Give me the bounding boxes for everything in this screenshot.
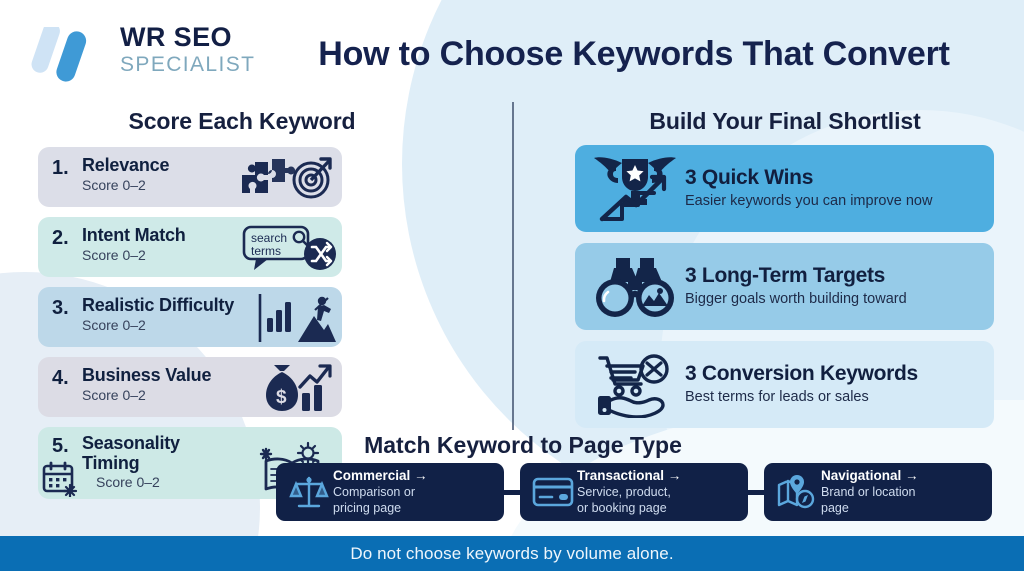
map-pin-compass-icon	[773, 473, 821, 511]
bar-chart-icon	[267, 302, 291, 332]
shortlist-card-long-term-targets[interactable]: 3 Long-Term Targets Bigger goals worth b…	[575, 243, 994, 330]
score-card-relevance[interactable]: 1. Relevance Score 0–2	[38, 147, 342, 207]
intent-match-icons: search terms	[242, 224, 338, 272]
score-item-range: Score 0–2	[82, 317, 234, 334]
svg-text:search: search	[251, 231, 287, 245]
final-shortlist-cards: 3 Quick Wins Easier keywords you can imp…	[575, 145, 994, 439]
column-divider	[512, 102, 514, 430]
score-item-name-line1: Seasonality	[82, 433, 180, 453]
score-item-name: Business Value	[82, 365, 211, 385]
score-item-number: 2.	[52, 225, 82, 251]
score-item-range: Score 0–2	[82, 177, 169, 194]
left-column-heading: Score Each Keyword	[30, 108, 454, 135]
shuffle-icon	[304, 238, 336, 270]
svg-text:$: $	[276, 387, 287, 408]
page-type-desc-line1: Service, product,	[577, 485, 681, 500]
target-arrow-icon	[294, 159, 330, 197]
page-type-title: Navigational →	[821, 468, 919, 484]
footer-banner: Do not choose keywords by volume alone.	[0, 536, 1024, 571]
score-item-name: Realistic Difficulty	[82, 295, 234, 315]
score-item-number: 4.	[52, 365, 82, 391]
wr-logo-mark-icon	[28, 27, 106, 83]
page-type-card-transactional[interactable]: Transactional → Service, product, or boo…	[520, 463, 748, 521]
page-type-heading: Match Keyword to Page Type	[270, 432, 776, 459]
page-type-desc-line2: pricing page	[333, 501, 428, 516]
brand-logo: WR SEO SPECIALIST	[28, 24, 264, 86]
connector-1	[503, 490, 521, 495]
credit-card-icon	[529, 475, 577, 509]
page-type-desc-line1: Brand or location	[821, 485, 919, 500]
mountain-climber-icon	[298, 297, 336, 342]
score-item-number: 1.	[52, 155, 82, 181]
page-type-title: Commercial →	[333, 468, 428, 484]
growth-arrow-icon	[300, 366, 330, 411]
binoculars-icon	[589, 254, 681, 320]
page-type-desc-line1: Comparison or	[333, 485, 428, 500]
page-type-desc-line2: or booking page	[577, 501, 681, 516]
score-item-number: 5.	[52, 433, 82, 459]
svg-text:terms: terms	[251, 244, 281, 258]
page-type-desc-line2: page	[821, 501, 919, 516]
page-title: How to Choose Keywords That Convert	[264, 34, 1004, 74]
shortlist-subtitle: Easier keywords you can improve now	[685, 193, 932, 210]
score-card-realistic-difficulty[interactable]: 3. Realistic Difficulty Score 0–2	[38, 287, 342, 347]
brand-name: WR SEO	[120, 23, 255, 52]
calendar-snowflake-icon	[42, 461, 82, 497]
shortlist-title: 3 Conversion Keywords	[685, 362, 918, 386]
shortlist-subtitle: Bigger goals worth building toward	[685, 291, 907, 308]
shortlist-card-conversion-keywords[interactable]: 3 Conversion Keywords Best terms for lea…	[575, 341, 994, 428]
page-type-card-commercial[interactable]: Commercial → Comparison or pricing page	[276, 463, 504, 521]
score-item-name: Intent Match	[82, 225, 186, 245]
brand-tagline: SPECIALIST	[120, 53, 255, 77]
shortlist-title: 3 Quick Wins	[685, 166, 932, 190]
score-item-name: Relevance	[82, 155, 169, 175]
score-item-range: Score 0–2	[82, 387, 211, 404]
page-type-card-navigational[interactable]: Navigational → Brand or location page	[764, 463, 992, 521]
right-column-heading: Build Your Final Shortlist	[560, 108, 1010, 135]
score-card-intent-match[interactable]: 2. Intent Match Score 0–2 search terms	[38, 217, 342, 277]
money-bag-icon: $	[266, 365, 298, 411]
cart-in-hand-icon	[589, 352, 681, 418]
scales-icon	[285, 472, 333, 512]
score-item-number: 3.	[52, 295, 82, 321]
search-terms-bubble-icon: search terms	[244, 227, 308, 270]
business-value-icons: $	[262, 363, 334, 413]
score-item-range: Score 0–2	[82, 247, 186, 264]
page-type-row: Commercial → Comparison or pricing page …	[276, 463, 992, 521]
score-item-name-line2: Timing	[82, 453, 180, 473]
difficulty-icons	[258, 292, 336, 344]
connector-2	[747, 490, 765, 495]
footer-text: Do not choose keywords by volume alone.	[350, 544, 673, 564]
puzzle-icon	[242, 159, 295, 193]
score-card-business-value[interactable]: 4. Business Value Score 0–2 $	[38, 357, 342, 417]
shortlist-subtitle: Best terms for leads or sales	[685, 389, 918, 406]
shortlist-title: 3 Long-Term Targets	[685, 264, 907, 288]
relevance-icons	[236, 155, 332, 201]
winged-trophy-growth-icon	[589, 153, 681, 225]
shortlist-card-quick-wins[interactable]: 3 Quick Wins Easier keywords you can imp…	[575, 145, 994, 232]
page-type-title: Transactional →	[577, 468, 681, 484]
infographic-canvas: WR SEO SPECIALIST How to Choose Keywords…	[0, 0, 1024, 571]
